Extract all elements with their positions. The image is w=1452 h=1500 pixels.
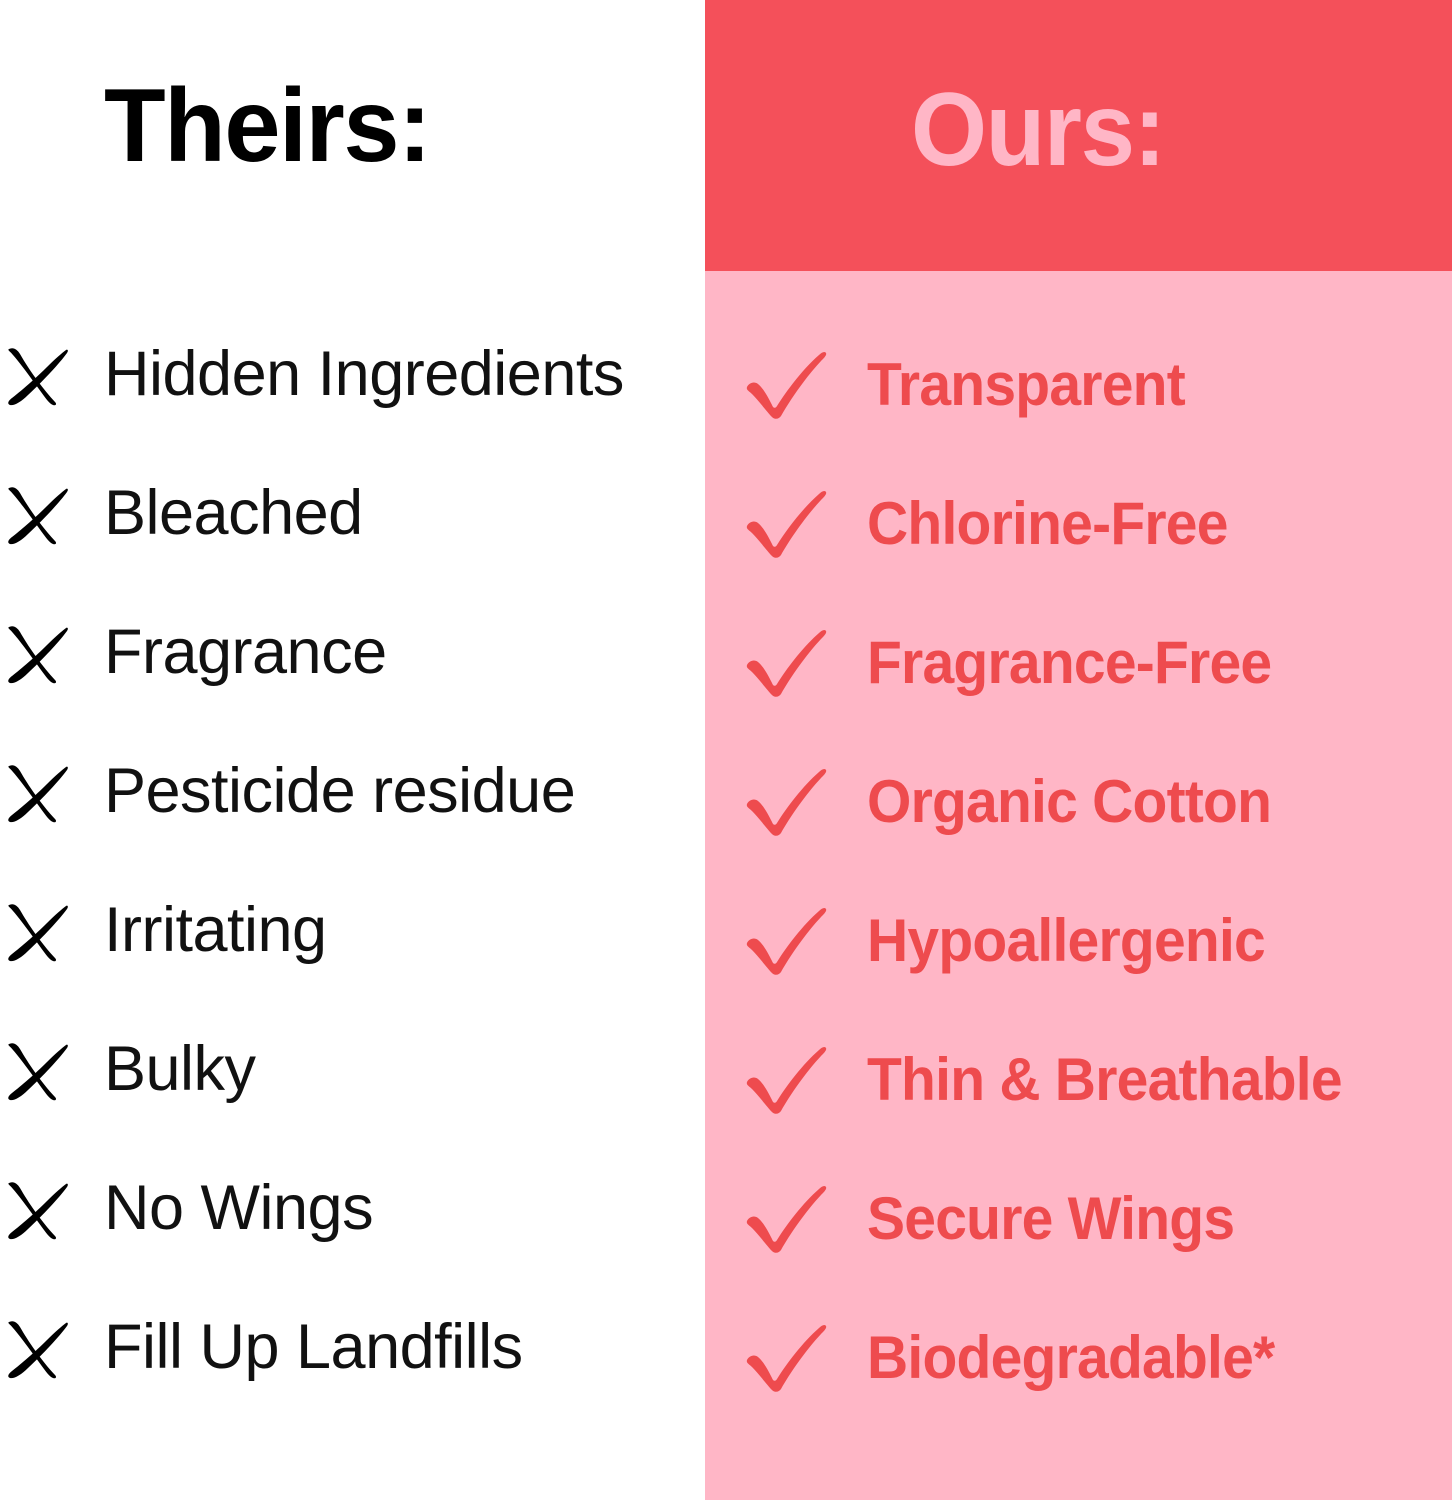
list-item-label: Chlorine-Free bbox=[867, 494, 1228, 554]
list-item: No Wings bbox=[0, 1139, 703, 1278]
list-item: Bleached bbox=[0, 444, 703, 583]
x-mark-icon bbox=[3, 757, 73, 827]
ours-list: Transparent Chlorine-Free Fragrance-Free bbox=[705, 315, 1452, 1427]
x-mark-icon bbox=[3, 1174, 73, 1244]
x-mark-icon bbox=[3, 618, 73, 688]
list-item-label: Transparent bbox=[867, 355, 1185, 415]
list-item-label: Fragrance-Free bbox=[867, 633, 1271, 693]
list-item-label: Secure Wings bbox=[867, 1189, 1234, 1249]
list-item: Biodegradable* bbox=[705, 1288, 1452, 1427]
check-mark-icon bbox=[745, 1183, 831, 1255]
list-item: Organic Cotton bbox=[705, 732, 1452, 871]
list-item-label: Hidden Ingredients bbox=[104, 343, 624, 406]
ours-heading: Ours: bbox=[911, 78, 1165, 182]
x-mark-icon bbox=[3, 479, 73, 549]
check-mark-icon bbox=[745, 766, 831, 838]
check-mark-icon bbox=[745, 627, 831, 699]
check-mark-icon bbox=[745, 1322, 831, 1394]
list-item: Secure Wings bbox=[705, 1149, 1452, 1288]
list-item: Pesticide residue bbox=[0, 722, 703, 861]
list-item-label: Pesticide residue bbox=[104, 760, 575, 823]
check-mark-icon bbox=[745, 1044, 831, 1116]
theirs-panel: Theirs: Hidden Ingredients bbox=[0, 0, 703, 1500]
list-item-label: Fill Up Landfills bbox=[104, 1316, 523, 1379]
list-item: Hidden Ingredients bbox=[0, 305, 703, 444]
list-item-label: Biodegradable* bbox=[867, 1328, 1274, 1388]
check-mark-icon bbox=[745, 905, 831, 977]
x-mark-icon bbox=[3, 1313, 73, 1383]
list-item: Chlorine-Free bbox=[705, 454, 1452, 593]
list-item: Thin & Breathable bbox=[705, 1010, 1452, 1149]
list-item: Fragrance-Free bbox=[705, 593, 1452, 732]
list-item: Fill Up Landfills bbox=[0, 1278, 703, 1417]
list-item: Bulky bbox=[0, 1000, 703, 1139]
x-mark-icon bbox=[3, 340, 73, 410]
list-item-label: Thin & Breathable bbox=[867, 1050, 1342, 1110]
x-mark-icon bbox=[3, 1035, 73, 1105]
list-item-label: Hypoallergenic bbox=[867, 911, 1265, 971]
list-item: Fragrance bbox=[0, 583, 703, 722]
list-item-label: No Wings bbox=[104, 1177, 373, 1240]
theirs-heading: Theirs: bbox=[104, 74, 430, 178]
list-item: Hypoallergenic bbox=[705, 871, 1452, 1010]
list-item: Transparent bbox=[705, 315, 1452, 454]
list-item-label: Organic Cotton bbox=[867, 772, 1271, 832]
ours-panel: Ours: Transparent Chlorine-Free bbox=[705, 0, 1452, 1500]
check-mark-icon bbox=[745, 349, 831, 421]
list-item-label: Irritating bbox=[104, 899, 327, 962]
check-mark-icon bbox=[745, 488, 831, 560]
list-item: Irritating bbox=[0, 861, 703, 1000]
list-item-label: Fragrance bbox=[104, 621, 387, 684]
list-item-label: Bleached bbox=[104, 482, 363, 545]
x-mark-icon bbox=[3, 896, 73, 966]
list-item-label: Bulky bbox=[104, 1038, 256, 1101]
comparison-infographic: Theirs: Hidden Ingredients bbox=[0, 0, 1452, 1500]
theirs-list: Hidden Ingredients Bleached bbox=[0, 305, 703, 1417]
